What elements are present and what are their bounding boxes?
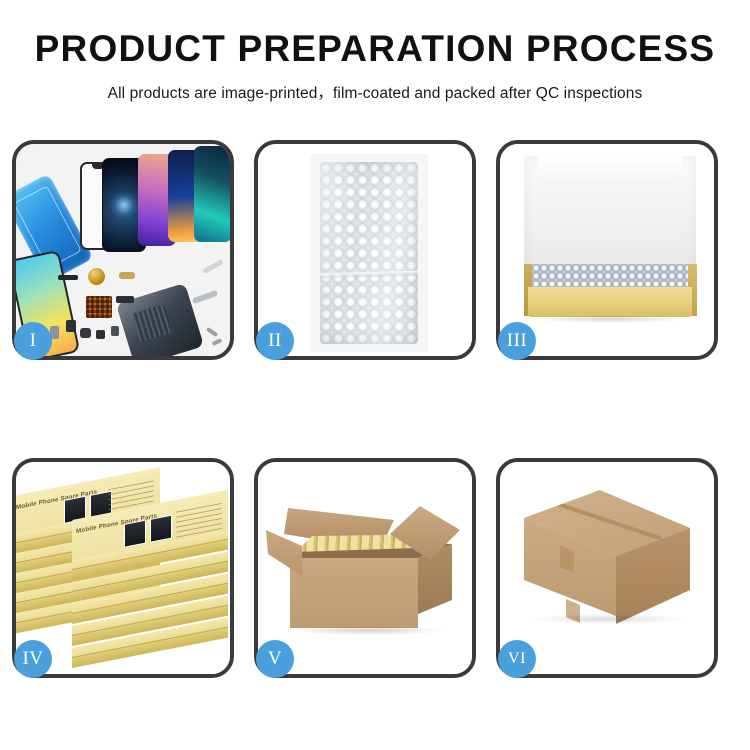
part-icon — [111, 326, 119, 336]
kraft-box-front — [528, 287, 692, 317]
step-image-4: Mobile Phone Spare Parts Mo — [16, 462, 230, 674]
screen-swatch-icon — [150, 515, 172, 543]
tweezers-icon — [192, 290, 218, 305]
step-image-5 — [258, 462, 472, 674]
carton-front — [290, 558, 418, 628]
part-icon — [58, 275, 78, 280]
process-step-1: I — [12, 140, 254, 362]
step-badge-4: IV — [14, 640, 52, 678]
process-step-3: III — [496, 140, 738, 362]
screen-swatch-icon — [124, 520, 146, 548]
part-icon — [119, 272, 135, 279]
part-icon — [96, 330, 105, 339]
page-header: PRODUCT PREPARATION PROCESS All products… — [0, 0, 750, 103]
screw-icon — [206, 327, 218, 337]
foam-liner-icon — [524, 156, 696, 274]
phone-back-housing-icon — [116, 283, 204, 356]
process-step-4: Mobile Phone Spare Parts Mo — [12, 458, 254, 680]
step-badge-1: I — [14, 322, 52, 360]
screwdriver-icon — [202, 259, 224, 274]
phone-teal-screen-icon — [194, 146, 230, 242]
process-step-5: V — [254, 458, 496, 680]
drop-shadow — [530, 614, 686, 624]
product-preparation-page: PRODUCT PREPARATION PROCESS All products… — [0, 0, 750, 750]
step-badge-2: II — [256, 322, 294, 360]
step-badge-3: III — [498, 322, 536, 360]
step-image-2 — [258, 144, 472, 356]
page-title: PRODUCT PREPARATION PROCESS — [0, 30, 750, 69]
drop-shadow — [294, 626, 444, 635]
drop-shadow — [530, 315, 690, 323]
step-badge-6: VI — [498, 640, 536, 678]
process-step-grid: I II — [12, 140, 738, 680]
speaker-part-icon — [88, 268, 105, 285]
part-icon — [66, 320, 76, 332]
chip-grid-icon — [86, 296, 112, 318]
process-step-2: II — [254, 140, 496, 362]
box-stack-right: Mobile Phone Spare Parts — [72, 520, 228, 658]
process-step-6: VI — [496, 458, 738, 680]
step-image-6 — [500, 462, 714, 674]
part-icon — [80, 328, 91, 338]
plastic-sheen — [320, 162, 418, 344]
part-icon — [116, 296, 134, 303]
step-image-3 — [500, 144, 714, 356]
page-subtitle: All products are image-printed，film-coat… — [0, 81, 750, 103]
step-image-1 — [16, 144, 230, 356]
screw-icon — [212, 338, 223, 346]
box-layer — [72, 648, 228, 666]
step-badge-5: V — [256, 640, 294, 678]
